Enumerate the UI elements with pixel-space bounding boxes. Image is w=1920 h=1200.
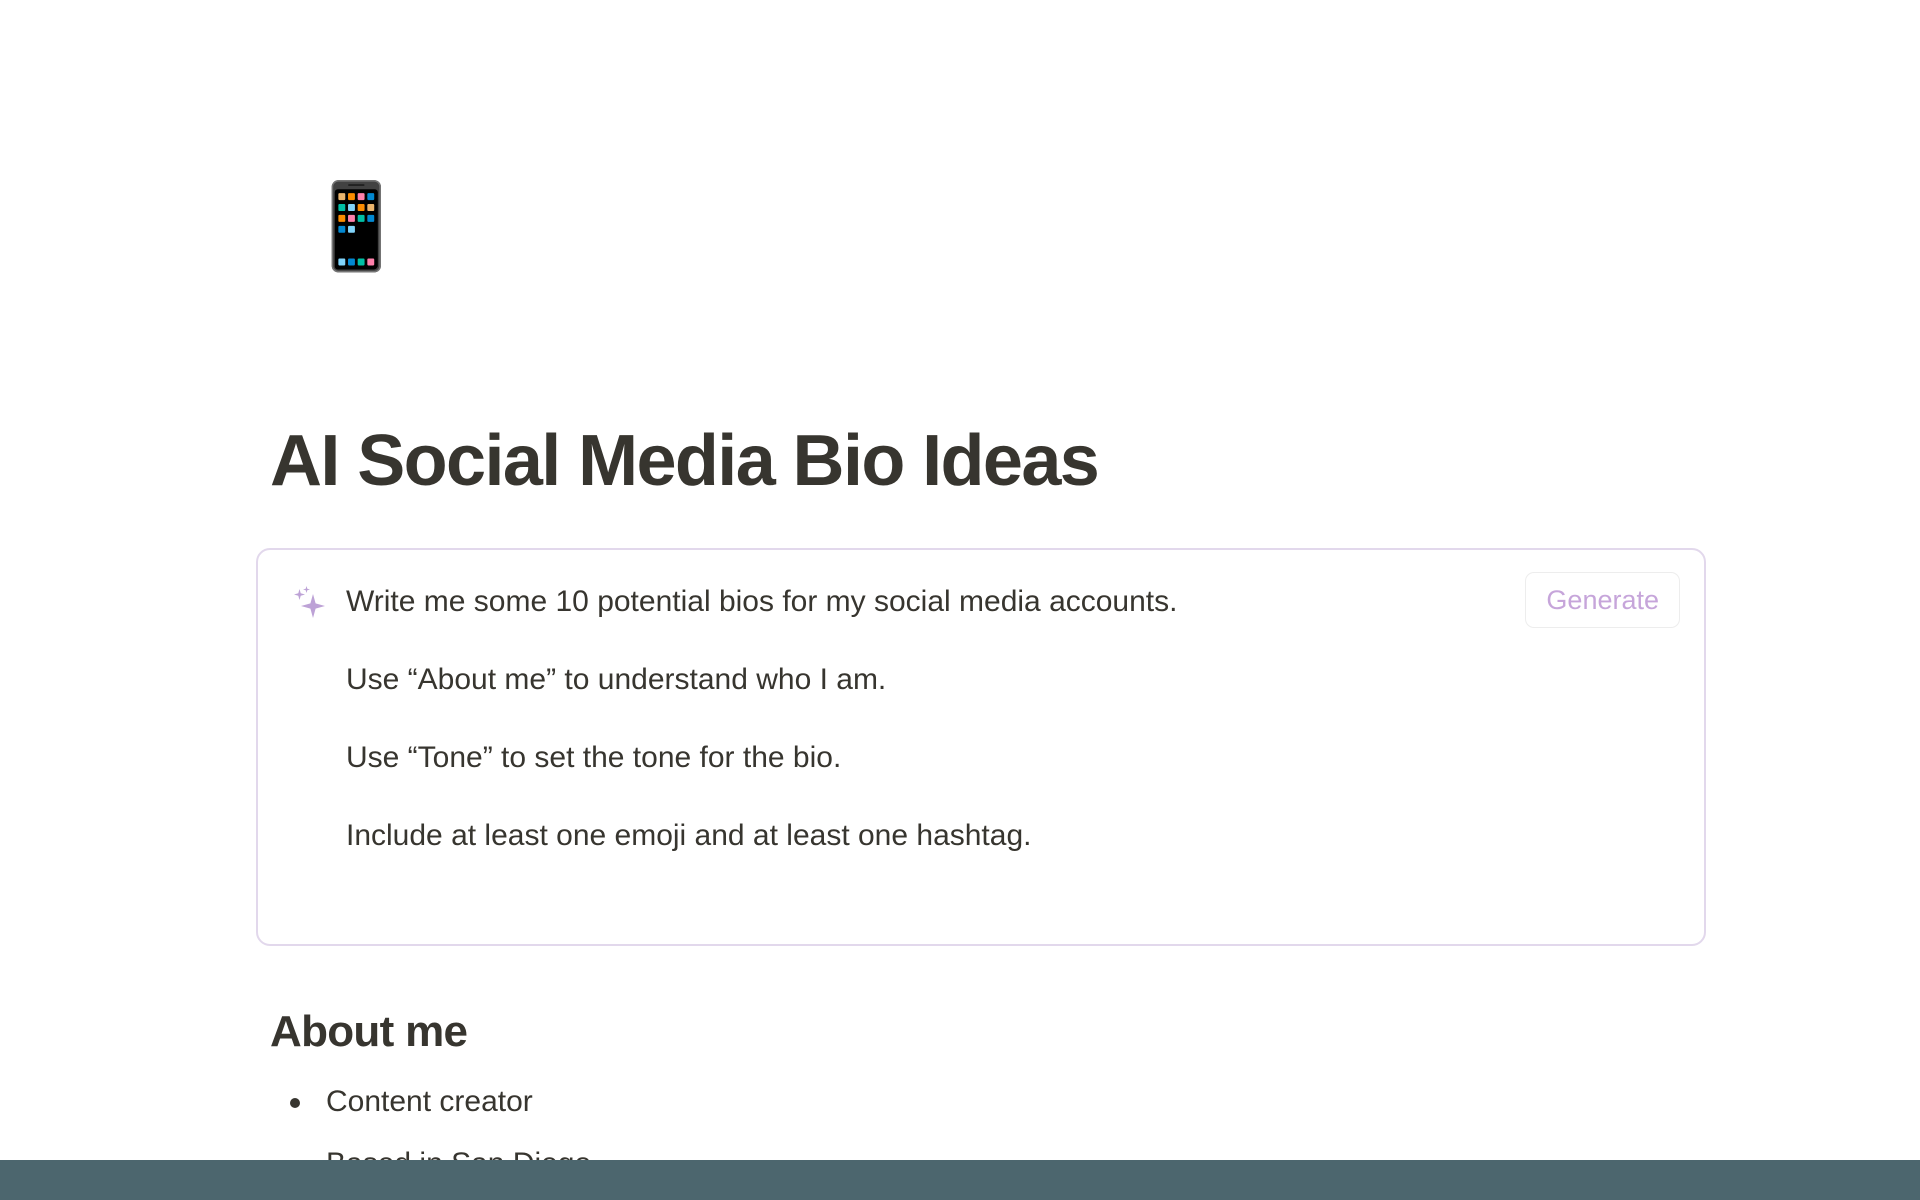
about-me-list: Content creator Based in San Diego bbox=[270, 1078, 1470, 1160]
list-item[interactable]: Content creator bbox=[270, 1078, 1470, 1126]
ai-instruction-line-2[interactable]: Use “Tone” to set the tone for the bio. bbox=[346, 736, 841, 780]
bottom-app-bar bbox=[0, 1160, 1920, 1200]
ai-instruction-line-3[interactable]: Include at least one emoji and at least … bbox=[346, 814, 1031, 858]
generate-button[interactable]: Generate bbox=[1525, 572, 1680, 628]
mobile-phone-emoji-icon[interactable]: 📱 bbox=[304, 178, 400, 274]
ai-prompt-row: Write me some 10 potential bios for my s… bbox=[346, 580, 1514, 624]
list-item[interactable]: Based in San Diego bbox=[270, 1140, 1470, 1160]
document-page: 📱 AI Social Media Bio Ideas Write me som… bbox=[0, 0, 1920, 1160]
page-title[interactable]: AI Social Media Bio Ideas bbox=[270, 425, 1098, 497]
ai-prompt-block[interactable]: Write me some 10 potential bios for my s… bbox=[256, 548, 1706, 946]
about-me-heading[interactable]: About me bbox=[270, 1008, 467, 1056]
ai-prompt-text[interactable]: Write me some 10 potential bios for my s… bbox=[346, 580, 1514, 624]
sparkles-icon bbox=[288, 583, 334, 629]
ai-instruction-line-1[interactable]: Use “About me” to understand who I am. bbox=[346, 658, 886, 702]
